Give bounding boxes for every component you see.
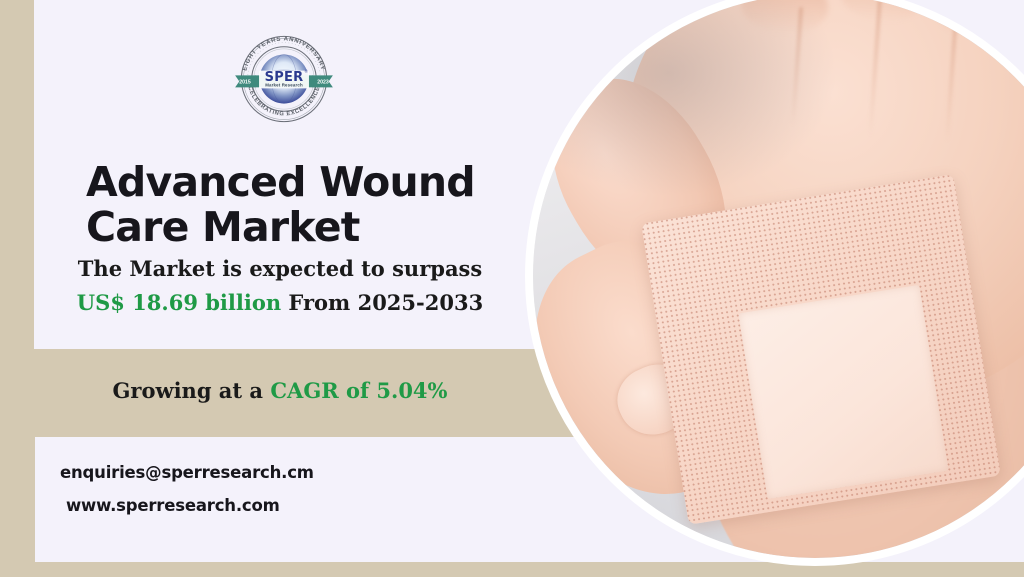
badge-year-from: 2015 <box>239 79 251 85</box>
headline-line-1: Advanced Wound <box>86 158 475 206</box>
knuckle <box>933 0 1019 40</box>
cagr-statement: Growing at a CAGR of 5.04% <box>36 378 524 403</box>
registered-trademark-icon: ® <box>305 69 308 74</box>
photo-inner <box>533 0 1024 558</box>
contact-details: enquiries@sperresearch.cm www.sperresear… <box>60 463 480 529</box>
photo-top-shadow <box>533 0 838 197</box>
market-value-amount: US$ 18.69 billion <box>77 290 281 315</box>
contact-email[interactable]: enquiries@sperresearch.cm <box>60 463 480 482</box>
left-tan-band <box>0 0 34 577</box>
cagr-prefix: Growing at a <box>112 378 270 403</box>
market-value-period: From 2025-2033 <box>281 290 483 315</box>
adhesive-dressing-patch <box>641 174 1001 524</box>
page-title: Advanced Wound Care Market <box>86 160 506 249</box>
contact-website[interactable]: www.sperresearch.com <box>66 496 480 515</box>
bottom-tan-band <box>0 562 1024 577</box>
headline-line-2: Care Market <box>86 205 506 249</box>
market-report-banner: EIGHT YEARS ANNIVERSARY CELEBRATING EXCE… <box>0 0 1024 577</box>
tendon <box>945 17 958 142</box>
subline-line-2: US$ 18.69 billion From 2025-2033 <box>36 286 524 320</box>
subline-line-1: The Market is expected to surpass <box>36 252 524 286</box>
sper-logo-badge[interactable]: EIGHT YEARS ANNIVERSARY CELEBRATING EXCE… <box>232 27 336 131</box>
market-value-statement: The Market is expected to surpass US$ 18… <box>36 252 524 320</box>
badge-tagline: Market Research <box>265 82 303 87</box>
knuckle <box>837 0 928 25</box>
cagr-value: CAGR of 5.04% <box>270 378 447 403</box>
wound-dressing-photo <box>525 0 1024 566</box>
patch-absorbent-pad <box>738 284 948 499</box>
badge-year-to: 2023 <box>317 79 329 85</box>
